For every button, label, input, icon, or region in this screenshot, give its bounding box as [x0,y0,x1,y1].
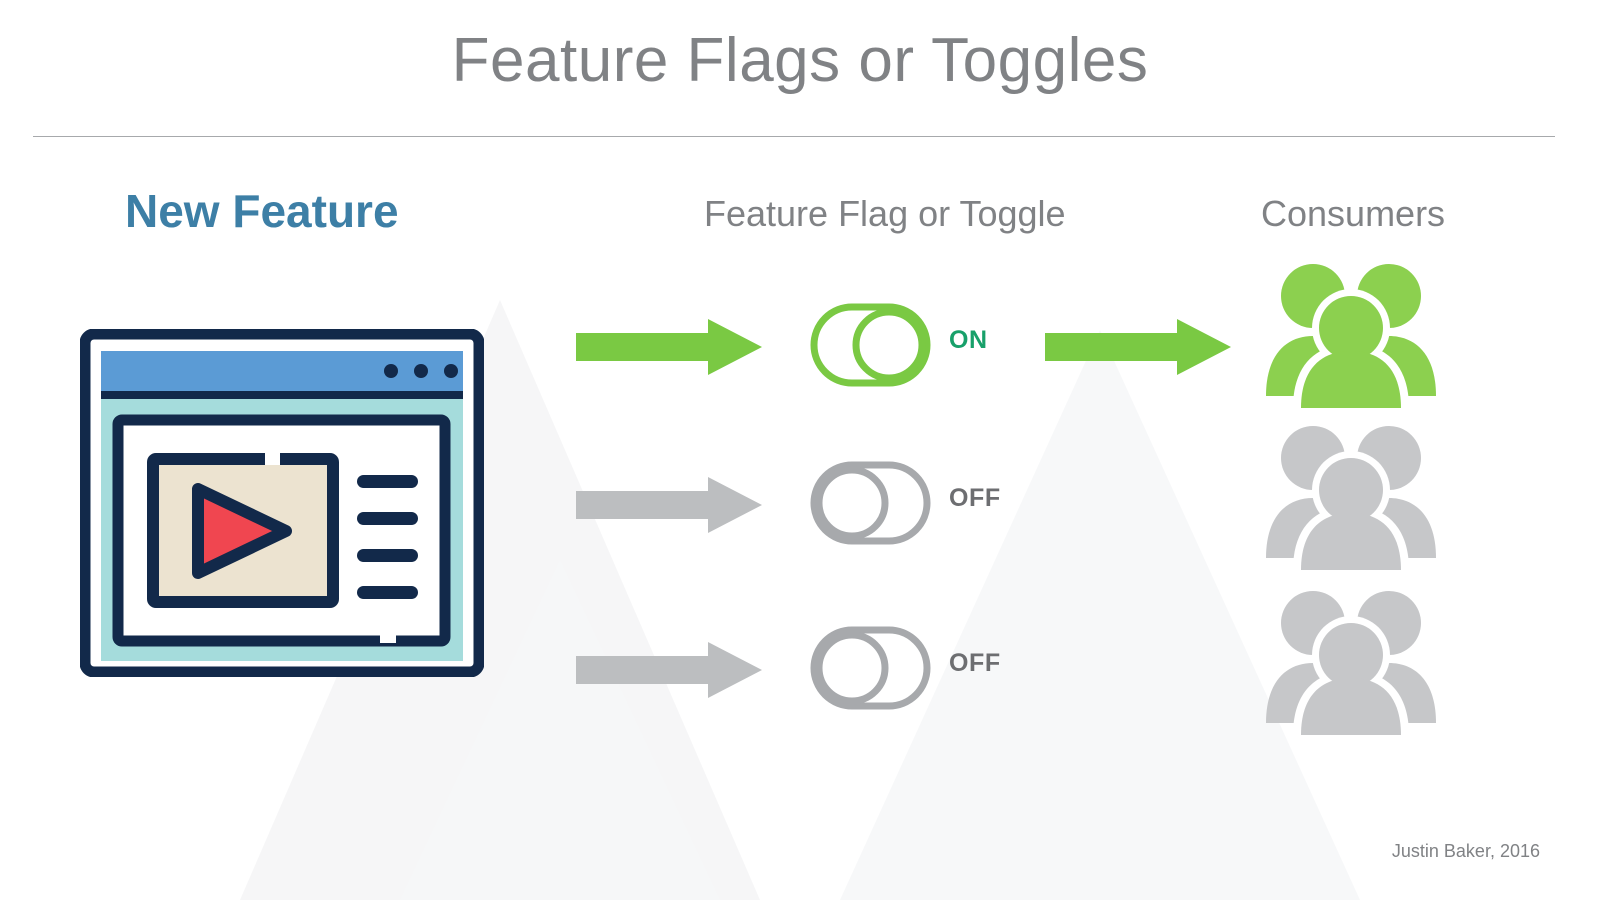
toggle-off-icon[interactable] [808,616,933,720]
page-title: Feature Flags or Toggles [0,30,1600,92]
toggle-knob [819,470,885,536]
arrow-feature-to-toggle-off-2 [576,642,762,703]
arrow-right-icon [1045,319,1231,375]
column-header-new-feature: New Feature [125,188,399,234]
flow-row-off-2: OFF [0,598,1600,738]
arrow-right-icon [576,642,762,698]
flow-row-off-1: OFF [0,433,1600,573]
toggle-off-icon[interactable] [808,451,933,555]
column-header-consumers: Consumers [1261,196,1445,232]
attribution-text: Justin Baker, 2016 [1392,842,1540,860]
consumers-group-disabled-2 [1258,583,1444,740]
toggle-switch-on[interactable] [808,293,933,402]
toggle-state-label-on: ON [949,328,988,353]
flow-row-on: ON [0,275,1600,415]
people-group-icon [1258,256,1444,408]
people-group-icon [1258,418,1444,570]
toggle-on-icon[interactable] [808,293,933,397]
toggle-switch-off-1[interactable] [808,451,933,560]
toggle-knob [819,635,885,701]
arrow-right-icon [576,319,762,375]
toggle-knob [856,312,922,378]
column-header-feature-flag: Feature Flag or Toggle [704,196,1066,232]
consumers-group-enabled [1258,256,1444,413]
toggle-switch-off-2[interactable] [808,616,933,725]
arrow-feature-to-toggle-on [576,319,762,380]
consumers-group-disabled-1 [1258,418,1444,575]
toggle-state-label-off-1: OFF [949,486,1001,511]
people-group-icon [1258,583,1444,735]
toggle-state-label-off-2: OFF [949,651,1001,676]
arrow-right-icon [576,477,762,533]
arrow-feature-to-toggle-off-1 [576,477,762,538]
title-divider [33,136,1555,137]
arrow-toggle-to-consumers-on [1045,319,1231,380]
slide-canvas: Feature Flags or Toggles New Feature Fea… [0,0,1600,900]
